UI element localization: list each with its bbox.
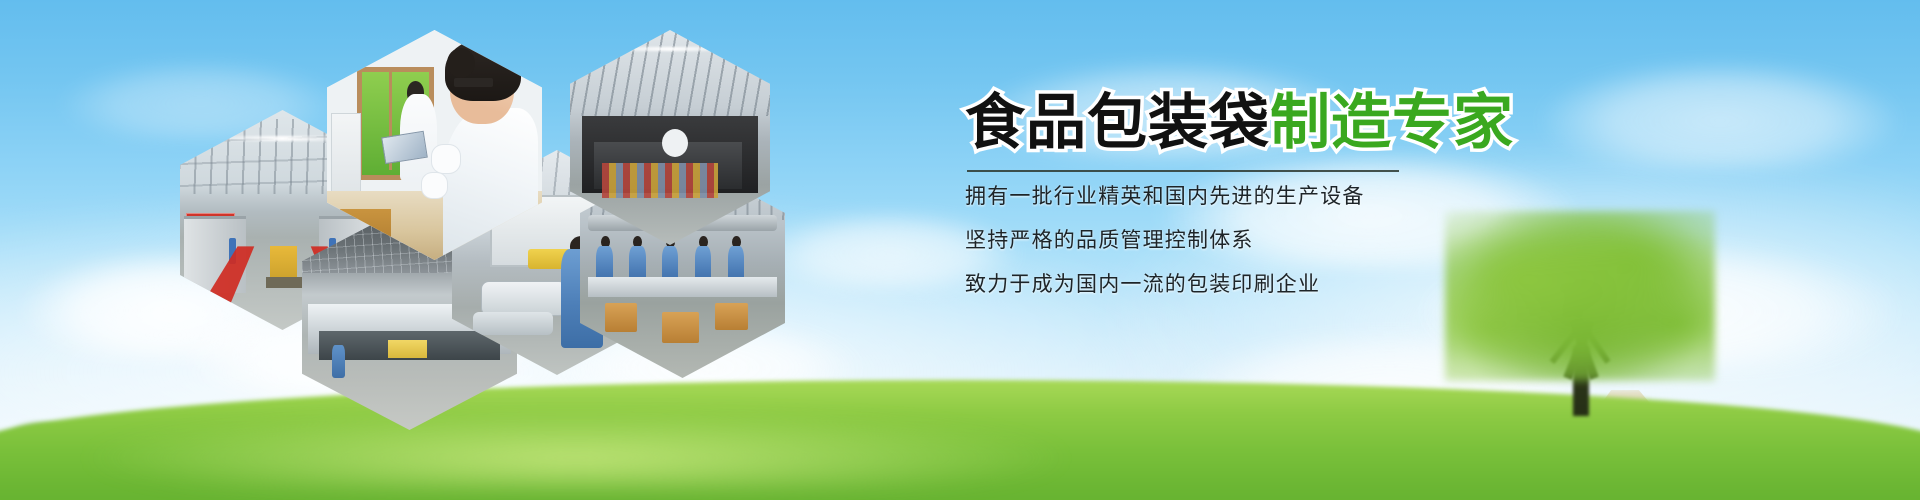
- banner-headline: 食品包装袋制造专家: [965, 92, 1725, 154]
- feature-item: 拥有一批行业精英和国内先进的生产设备: [965, 186, 1725, 207]
- hero-banner: 食品包装袋制造专家 拥有一批行业精英和国内先进的生产设备 坚持严格的品质管理控制…: [0, 0, 1920, 500]
- headline-green-text: 制造专家: [1270, 89, 1514, 156]
- headline-divider: [967, 170, 1399, 172]
- grass-highlight: [77, 410, 1075, 490]
- feature-item: 坚持严格的品质管理控制体系: [965, 230, 1725, 251]
- feature-item: 致力于成为国内一流的包装印刷企业: [965, 274, 1725, 295]
- headline-black-text: 食品包装袋: [965, 89, 1270, 156]
- banner-copy: 食品包装袋制造专家 拥有一批行业精英和国内先进的生产设备 坚持严格的品质管理控制…: [965, 92, 1725, 295]
- feature-list: 拥有一批行业精英和国内先进的生产设备 坚持严格的品质管理控制体系 致力于成为国内…: [965, 186, 1725, 295]
- hexagon-photo-cluster: [0, 0, 800, 420]
